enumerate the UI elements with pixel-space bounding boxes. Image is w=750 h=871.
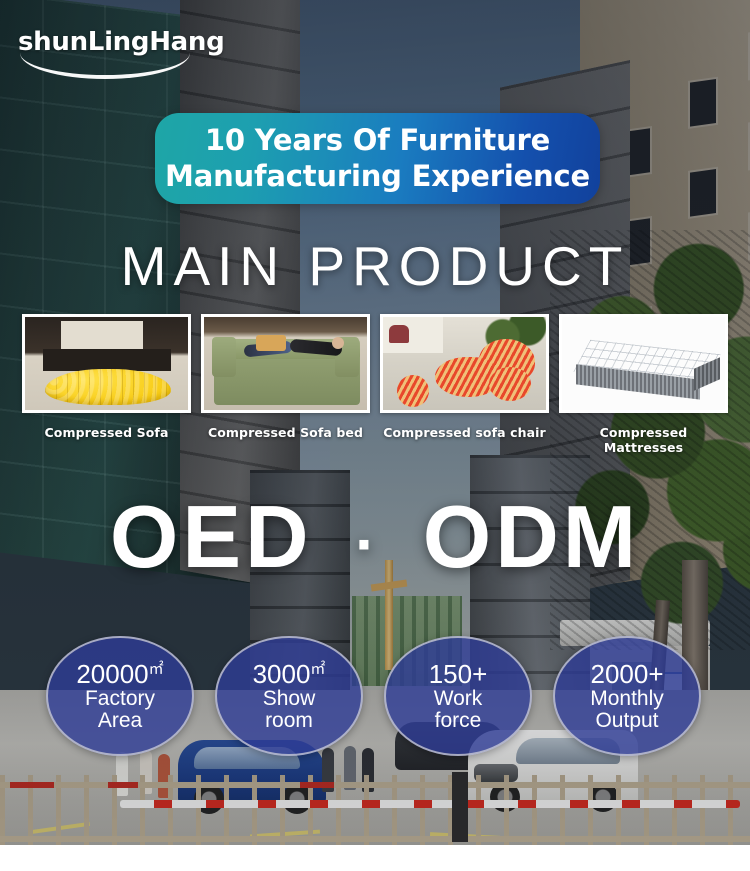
red-striped-sofa-chair-photo bbox=[383, 317, 546, 410]
green-modular-sofa-bed-photo bbox=[204, 317, 367, 410]
bed-arm-left bbox=[212, 337, 236, 377]
headline-oed: OED bbox=[110, 487, 313, 586]
stat-unit: ㎡ bbox=[310, 660, 325, 677]
stat-label-line1: Show bbox=[263, 688, 316, 709]
stat-label-line2: Area bbox=[98, 710, 142, 731]
brand-logo[interactable]: shunLingHang bbox=[18, 27, 203, 57]
stat-circle-workforce[interactable]: 150+ Work force bbox=[384, 636, 532, 756]
bubble-texture bbox=[45, 369, 171, 405]
product-label: Compressed Mattresses bbox=[559, 425, 728, 455]
product-label: Compressed Sofa bbox=[22, 425, 191, 440]
product-thumbnail[interactable] bbox=[559, 314, 728, 413]
headline-odm: ODM bbox=[423, 487, 640, 586]
sofa-shape bbox=[45, 369, 171, 405]
stat-number: 20000 bbox=[76, 659, 148, 689]
product-item-compressed-mattresses[interactable]: Compressed Mattresses bbox=[559, 314, 728, 455]
wall-panel bbox=[61, 321, 143, 349]
stat-unit: ㎡ bbox=[149, 660, 164, 677]
section-title-main-product: MAIN PRODUCT bbox=[0, 234, 750, 298]
stat-number: 2000+ bbox=[590, 659, 663, 689]
stat-circle-factory-area[interactable]: 20000㎡ Factory Area bbox=[46, 636, 194, 756]
stat-label-line1: Factory bbox=[85, 688, 155, 709]
poster-banner: shunLingHang 10 Years Of Furniture Manuf… bbox=[0, 0, 750, 845]
experience-banner: 10 Years Of Furniture Manufacturing Expe… bbox=[155, 113, 600, 204]
stat-value: 150+ bbox=[429, 661, 488, 688]
stat-label-line2: force bbox=[435, 710, 482, 731]
product-label: Compressed Sofa bed bbox=[201, 425, 370, 440]
stat-value: 2000+ bbox=[590, 661, 663, 688]
blanket bbox=[256, 335, 286, 351]
product-list: Compressed Sofa Compressed Sofa bed bbox=[22, 314, 728, 455]
stat-label-line2: room bbox=[265, 710, 313, 731]
product-item-compressed-sofa[interactable]: Compressed Sofa bbox=[22, 314, 191, 455]
white-quilted-mattress-photo bbox=[562, 317, 725, 410]
stat-label-line1: Work bbox=[434, 688, 483, 709]
banner-line-2: Manufacturing Experience bbox=[165, 159, 590, 194]
striped-chair-side bbox=[489, 367, 531, 401]
product-thumbnail[interactable] bbox=[201, 314, 370, 413]
stat-value: 20000㎡ bbox=[76, 661, 163, 688]
stat-number: 3000 bbox=[253, 659, 311, 689]
striped-ball-ottoman bbox=[397, 375, 429, 407]
stat-label-line1: Monthly bbox=[590, 688, 664, 709]
wall-dark-band bbox=[43, 349, 171, 371]
oed-odm-headline: OED · ODM bbox=[0, 493, 750, 581]
product-thumbnail[interactable] bbox=[22, 314, 191, 413]
stat-circle-showroom[interactable]: 3000㎡ Show room bbox=[215, 636, 363, 756]
yellow-bubble-sofa-photo bbox=[25, 317, 188, 410]
person-head bbox=[332, 337, 344, 349]
stat-value: 3000㎡ bbox=[253, 661, 326, 688]
stat-number: 150+ bbox=[429, 659, 488, 689]
product-item-compressed-sofa-bed[interactable]: Compressed Sofa bed bbox=[201, 314, 370, 455]
headline-dot-separator: · bbox=[341, 508, 394, 580]
banner-line-1: 10 Years Of Furniture bbox=[205, 123, 550, 158]
stats-row: 20000㎡ Factory Area 3000㎡ Show room 150+… bbox=[46, 636, 706, 756]
product-item-compressed-sofa-chair[interactable]: Compressed sofa chair bbox=[380, 314, 549, 455]
product-label: Compressed sofa chair bbox=[380, 425, 549, 440]
product-thumbnail[interactable] bbox=[380, 314, 549, 413]
stat-circle-monthly-output[interactable]: 2000+ Monthly Output bbox=[553, 636, 701, 756]
background-chair bbox=[389, 325, 409, 343]
stat-label-line2: Output bbox=[595, 710, 658, 731]
